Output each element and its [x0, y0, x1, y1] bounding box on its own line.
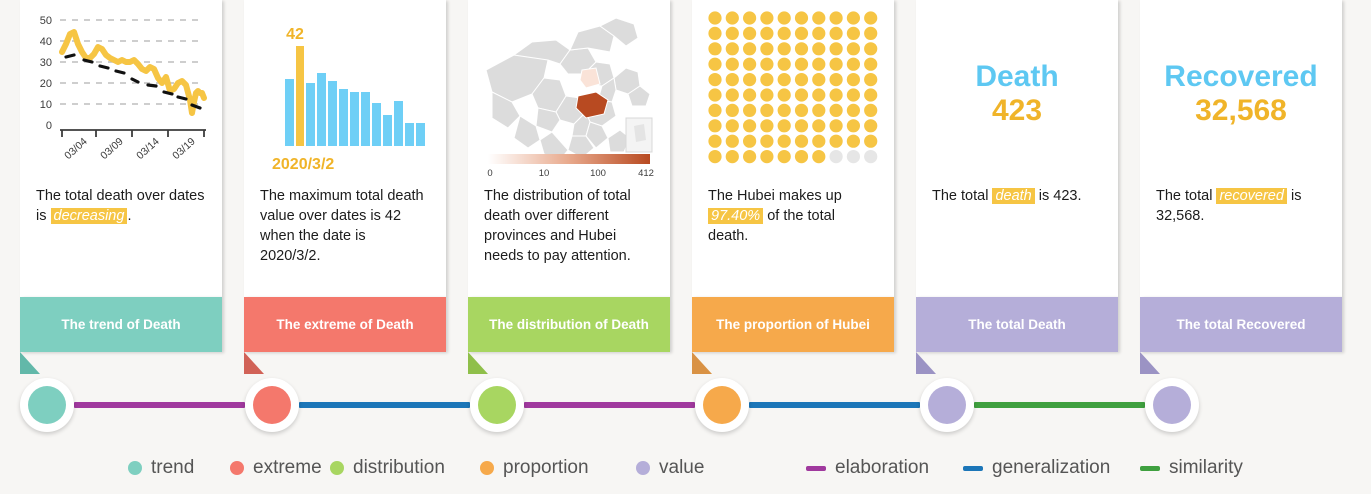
- dot-filled: [864, 42, 877, 55]
- map-provinces: [486, 18, 650, 160]
- big-value-title: Death: [975, 60, 1058, 94]
- legend-line-icon: [1140, 466, 1160, 471]
- caption-highlight: 97.40%: [708, 208, 763, 224]
- dot-filled: [847, 11, 860, 24]
- card-distribution-of-death[interactable]: 0 10 100 412 The distribution of total d…: [468, 0, 670, 355]
- dot-filled: [760, 11, 773, 24]
- dot-filled: [812, 88, 825, 101]
- line-series-total-death: [62, 32, 204, 113]
- timeline-node-distribution-2[interactable]: [470, 378, 524, 432]
- bubble-tail: [1140, 352, 1160, 374]
- dot-filled: [726, 58, 739, 71]
- timeline-link-similarity[interactable]: [974, 402, 1145, 408]
- dot-filled: [847, 104, 860, 117]
- dot-filled: [864, 58, 877, 71]
- caption-part: .: [127, 208, 131, 224]
- dot-filled: [778, 27, 791, 40]
- dot-filled: [847, 42, 860, 55]
- dot-filled: [760, 73, 773, 86]
- timeline-node-dot: [703, 386, 741, 424]
- card-total-death[interactable]: Death 423 The total death is 423. The to…: [916, 0, 1118, 355]
- dot-filled: [726, 150, 739, 163]
- card-label-total-recovered[interactable]: The total Recovered: [1140, 297, 1342, 352]
- caption-trend: The total death over dates is decreasing…: [20, 182, 222, 297]
- china-map-svg: 0 10 100 412: [474, 8, 664, 180]
- dot-filled: [760, 104, 773, 117]
- dot-filled: [743, 119, 756, 132]
- timeline-node-trend-0[interactable]: [20, 378, 74, 432]
- legend-label: elaboration: [835, 457, 929, 479]
- caption-part: is 423.: [1035, 188, 1082, 204]
- dot-filled: [795, 58, 808, 71]
- dot-filled: [812, 135, 825, 148]
- dot-filled: [812, 73, 825, 86]
- caption-total-death: The total death is 423.: [916, 182, 1118, 297]
- dot-filled: [760, 88, 773, 101]
- dot-filled: [743, 58, 756, 71]
- dot-filled: [726, 11, 739, 24]
- dot-filled: [795, 27, 808, 40]
- dot-filled: [778, 11, 791, 24]
- line-chart-visualization: 50 40 30 20 10 0: [20, 0, 222, 182]
- dot-filled: [708, 11, 721, 24]
- label-bubble-wrap: The total Recovered: [1140, 297, 1342, 352]
- dot-filled: [864, 119, 877, 132]
- legend-line-icon: [963, 466, 983, 471]
- dot-filled: [864, 11, 877, 24]
- legend-swatch-icon: [636, 461, 650, 475]
- y-tick-10: 10: [40, 99, 52, 111]
- x-ticks: [62, 130, 204, 137]
- bubble-tail: [468, 352, 488, 374]
- dot-empty: [864, 150, 877, 163]
- card-label-extreme[interactable]: The extreme of Death: [244, 297, 446, 352]
- timeline-link-elaboration[interactable]: [524, 402, 695, 408]
- timeline-node-value-4[interactable]: [920, 378, 974, 432]
- y-tick-40: 40: [40, 36, 52, 48]
- dot-filled: [778, 73, 791, 86]
- card-proportion-of-hubei[interactable]: The Hubei makes up 97.40% of the total d…: [692, 0, 894, 355]
- dot-filled: [726, 135, 739, 148]
- timeline-link-elaboration[interactable]: [74, 402, 245, 408]
- map-legend-tick-10: 10: [539, 168, 550, 179]
- dot-filled: [778, 58, 791, 71]
- dot-filled: [795, 73, 808, 86]
- dot-filled: [726, 42, 739, 55]
- dot-filled: [708, 119, 721, 132]
- big-value-visualization-death: Death 423: [916, 0, 1118, 182]
- bubble-tail: [692, 352, 712, 374]
- caption-distribution: The distribution of total death over dif…: [468, 182, 670, 297]
- dot-filled: [760, 58, 773, 71]
- timeline-node-extreme-1[interactable]: [245, 378, 299, 432]
- timeline-node-dot: [928, 386, 966, 424]
- caption-extreme: The maximum total death value over dates…: [244, 182, 446, 297]
- card-extreme-of-death[interactable]: 42: [244, 0, 446, 355]
- legend-swatch-icon: [128, 461, 142, 475]
- card-label-total-death[interactable]: The total Death: [916, 297, 1118, 352]
- map-legend-tick-412: 412: [638, 168, 654, 179]
- bar-chart-visualization: 42: [244, 0, 446, 182]
- dot-filled: [743, 104, 756, 117]
- card-label-trend[interactable]: The trend of Death: [20, 297, 222, 352]
- timeline-node-dot: [1153, 386, 1191, 424]
- dot-filled: [847, 58, 860, 71]
- dot-filled: [708, 27, 721, 40]
- legend: trendextremedistributionproportionvaluee…: [0, 448, 1371, 488]
- dot-filled: [795, 150, 808, 163]
- timeline-node-dot: [28, 386, 66, 424]
- card-body: Death 423 The total death is 423.: [916, 0, 1118, 297]
- x-tick-0: 03/04: [62, 135, 90, 162]
- label-bubble-wrap: The total Death: [916, 297, 1118, 352]
- dot-filled: [760, 150, 773, 163]
- legend-label: generalization: [992, 457, 1110, 479]
- legend-link-similarity[interactable]: similarity: [1140, 457, 1243, 479]
- big-value-number: 32,568: [1195, 94, 1287, 128]
- dot-filled: [864, 27, 877, 40]
- dot-filled: [743, 88, 756, 101]
- dot-filled: [830, 88, 843, 101]
- timeline-link-generalization[interactable]: [299, 402, 470, 408]
- dot-filled: [812, 58, 825, 71]
- legend-label: similarity: [1169, 457, 1243, 479]
- dot-filled: [726, 27, 739, 40]
- timeline-node-proportion-3[interactable]: [695, 378, 749, 432]
- caption-part: The maximum total death value over dates…: [260, 188, 424, 264]
- card-body: 50 40 30 20 10 0: [20, 0, 222, 297]
- bars: [285, 46, 425, 146]
- legend-node-proportion[interactable]: proportion: [480, 457, 589, 479]
- timeline-node-dot: [478, 386, 516, 424]
- dot-filled: [812, 27, 825, 40]
- dot-filled: [778, 150, 791, 163]
- y-tick-30: 30: [40, 57, 52, 69]
- line-chart-svg: 50 40 30 20 10 0: [26, 9, 216, 179]
- timeline-link-generalization[interactable]: [749, 402, 920, 408]
- label-bubble-wrap: The trend of Death: [20, 297, 222, 352]
- dot-filled: [708, 88, 721, 101]
- dot-filled: [760, 27, 773, 40]
- dot-filled: [830, 73, 843, 86]
- x-tick-1: 03/09: [98, 135, 126, 162]
- dot-matrix-visualization: [692, 0, 894, 182]
- big-value-number: 423: [992, 94, 1042, 128]
- caption-total-recovered: The total recovered is 32,568.: [1140, 182, 1342, 297]
- dot-matrix-svg: [705, 8, 881, 180]
- dot-filled: [778, 104, 791, 117]
- label-bubble-wrap: The proportion of Hubei: [692, 297, 894, 352]
- dot-filled: [830, 42, 843, 55]
- dot-filled: [812, 42, 825, 55]
- big-value-visualization-recovered: Recovered 32,568: [1140, 0, 1342, 182]
- legend-line-icon: [806, 466, 826, 471]
- legend-link-generalization[interactable]: generalization: [963, 457, 1110, 479]
- dot-filled: [830, 27, 843, 40]
- legend-node-extreme[interactable]: extreme: [230, 457, 322, 479]
- map-legend-tick-0: 0: [487, 168, 492, 179]
- dot-filled: [795, 88, 808, 101]
- legend-label: distribution: [353, 457, 445, 479]
- dot-filled: [847, 73, 860, 86]
- bar-annotation-value: 42: [286, 26, 304, 43]
- caption-highlight: decreasing: [51, 208, 128, 224]
- dot-filled: [726, 119, 739, 132]
- dot-filled: [830, 104, 843, 117]
- dot-filled: [708, 42, 721, 55]
- dot-filled: [760, 135, 773, 148]
- caption-part: The total: [932, 188, 992, 204]
- legend-link-elaboration[interactable]: elaboration: [806, 457, 929, 479]
- legend-node-value[interactable]: value: [636, 457, 704, 479]
- bubble-tail: [20, 352, 40, 374]
- dot-filled: [726, 104, 739, 117]
- bar-chart-svg: 42: [250, 9, 440, 179]
- legend-node-trend[interactable]: trend: [128, 457, 194, 479]
- dot-filled: [760, 119, 773, 132]
- dot-filled: [864, 104, 877, 117]
- card-label-proportion[interactable]: The proportion of Hubei: [692, 297, 894, 352]
- map-legend-tick-100: 100: [590, 168, 606, 179]
- x-tick-3: 03/19: [170, 135, 198, 162]
- y-tick-20: 20: [40, 78, 52, 90]
- card-label-distribution[interactable]: The distribution of Death: [468, 297, 670, 352]
- dot-filled: [726, 88, 739, 101]
- x-tick-2: 03/14: [134, 135, 162, 162]
- map-legend-gradient: [488, 154, 650, 164]
- dot-filled: [812, 104, 825, 117]
- dot-filled: [795, 42, 808, 55]
- legend-swatch-icon: [480, 461, 494, 475]
- dot-filled: [847, 88, 860, 101]
- y-tick-50: 50: [40, 15, 52, 27]
- big-value-title: Recovered: [1164, 60, 1317, 94]
- bubble-tail: [244, 352, 264, 374]
- legend-label: value: [659, 457, 704, 479]
- label-bubble-wrap: The distribution of Death: [468, 297, 670, 352]
- dot-filled: [708, 150, 721, 163]
- story-timeline: [0, 378, 1371, 440]
- caption-part: The total: [1156, 188, 1216, 204]
- dot-empty: [830, 150, 843, 163]
- card-total-recovered[interactable]: Recovered 32,568 The total recovered is …: [1140, 0, 1342, 355]
- legend-swatch-icon: [330, 461, 344, 475]
- dot-filled: [708, 135, 721, 148]
- dot-filled: [778, 42, 791, 55]
- card-body: The Hubei makes up 97.40% of the total d…: [692, 0, 894, 297]
- choropleth-map-visualization: 0 10 100 412: [468, 0, 670, 182]
- dot-filled: [708, 104, 721, 117]
- dot-empty: [847, 150, 860, 163]
- dot-filled: [847, 135, 860, 148]
- legend-node-distribution[interactable]: distribution: [330, 457, 445, 479]
- dot-filled: [864, 88, 877, 101]
- timeline-node-dot: [253, 386, 291, 424]
- map-inset-shape: [634, 124, 646, 142]
- caption-part: The Hubei makes up: [708, 188, 842, 204]
- dot-filled: [812, 150, 825, 163]
- dot-filled: [743, 27, 756, 40]
- dot-filled: [812, 119, 825, 132]
- dot-filled: [864, 135, 877, 148]
- dot-filled: [847, 119, 860, 132]
- dot-filled: [743, 42, 756, 55]
- bubble-tail: [916, 352, 936, 374]
- dot-filled: [830, 58, 843, 71]
- dot-filled: [864, 73, 877, 86]
- dot-filled: [795, 135, 808, 148]
- legend-label: trend: [151, 457, 194, 479]
- card-body: Recovered 32,568 The total recovered is …: [1140, 0, 1342, 297]
- dot-filled: [847, 27, 860, 40]
- bar-annotation-label: 2020/3/2: [272, 156, 334, 173]
- legend-label: proportion: [503, 457, 589, 479]
- dot-filled: [743, 73, 756, 86]
- dot-filled: [743, 11, 756, 24]
- legend-swatch-icon: [230, 461, 244, 475]
- card-trend-of-death[interactable]: 50 40 30 20 10 0: [20, 0, 222, 355]
- caption-proportion: The Hubei makes up 97.40% of the total d…: [692, 182, 894, 297]
- dot-filled: [743, 150, 756, 163]
- dot-filled: [778, 88, 791, 101]
- dot-filled: [743, 135, 756, 148]
- dot-filled: [708, 58, 721, 71]
- dot-filled: [726, 73, 739, 86]
- map-region-highlight-light: [580, 68, 600, 88]
- card-body: 42: [244, 0, 446, 297]
- caption-highlight: recovered: [1216, 188, 1286, 204]
- dot-filled: [812, 11, 825, 24]
- dot-filled: [778, 119, 791, 132]
- dot-filled: [795, 104, 808, 117]
- dot-filled: [760, 42, 773, 55]
- label-bubble-wrap: The extreme of Death: [244, 297, 446, 352]
- legend-label: extreme: [253, 457, 322, 479]
- dot-filled: [795, 11, 808, 24]
- timeline-node-value-5[interactable]: [1145, 378, 1199, 432]
- dot-filled: [830, 135, 843, 148]
- caption-part: The distribution of total death over dif…: [484, 188, 631, 264]
- dot-filled: [830, 11, 843, 24]
- dot-filled: [778, 135, 791, 148]
- card-strip: 50 40 30 20 10 0: [0, 0, 1371, 360]
- dot-filled: [795, 119, 808, 132]
- dot-filled: [830, 119, 843, 132]
- y-tick-0: 0: [46, 120, 52, 132]
- caption-highlight: death: [992, 188, 1034, 204]
- dot-filled: [708, 73, 721, 86]
- card-body: 0 10 100 412 The distribution of total d…: [468, 0, 670, 297]
